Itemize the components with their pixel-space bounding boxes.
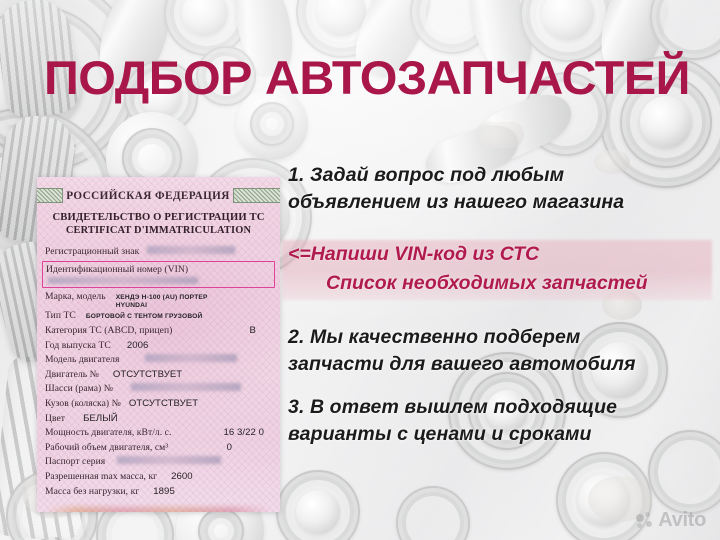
page-title: ПОДБОР АВТОЗАПЧАСТЕЙ	[44, 50, 711, 106]
field-label: Двигатель №	[45, 368, 99, 383]
field-label: Шасси (рама) №	[45, 382, 113, 397]
redacted-value	[147, 246, 235, 254]
vin-callout-line-1: <=Напиши VIN-код из СТС	[288, 240, 708, 269]
field-label: Год выпуска ТС	[45, 339, 111, 354]
security-pattern-left-icon	[37, 188, 63, 203]
certificate-field-list: Регистрационный знак Идентификационный н…	[45, 245, 272, 499]
field-value: B	[250, 324, 256, 339]
certificate-field-row: Категория ТС (ABCD, прицеп) B	[45, 324, 272, 339]
poster-canvas: ПОДБОР АВТОЗАПЧАСТЕЙ РОССИЙСКАЯ ФЕДЕРАЦИ…	[0, 0, 720, 540]
instructions-column: 1. Задай вопрос под любым объявлением из…	[288, 162, 708, 448]
certificate-redacted-stamp-date	[45, 507, 272, 512]
avito-watermark: Avito	[636, 510, 706, 530]
redacted-value	[131, 383, 241, 391]
field-label: Модель двигателя	[45, 353, 119, 368]
step-1-line-2: объявлением из нашего магазина	[288, 189, 708, 216]
certificate-field-row: Идентификационный номер (VIN)	[46, 263, 271, 278]
certificate-field-row: Разрешенная max масса, кг 2600	[45, 470, 272, 485]
step-2-line-1: 2. Мы качественно подберем	[288, 324, 708, 351]
certificate-field-row: Модель двигателя	[45, 353, 272, 368]
field-label: Кузов (коляска) №	[45, 397, 121, 412]
field-value: 2600	[171, 470, 193, 485]
certificate-title-ru: СВИДЕТЕЛЬСТВО О РЕГИСТРАЦИИ ТС	[45, 212, 272, 223]
field-value: 1895	[153, 485, 175, 500]
certificate-field-row: Паспорт серия	[45, 455, 272, 470]
security-pattern-right-icon	[233, 188, 280, 203]
avito-logo-icon	[636, 512, 653, 529]
certificate-field-row: Марка, модель ХЕНДЭ Н-100 (AU) ПОРТЕР HY…	[45, 290, 272, 309]
step-1-text: 1. Задай вопрос под любым объявлением из…	[288, 162, 708, 216]
field-label: Разрешенная max масса, кг	[45, 470, 157, 485]
step-2-text: 2. Мы качественно подберем запчасти для …	[288, 324, 708, 378]
step-1-line-1: 1. Задай вопрос под любым	[288, 162, 708, 189]
certificate-field-row	[46, 277, 271, 284]
certificate-field-row: Шасси (рама) №	[45, 382, 272, 397]
certificate-title-fr: CERTIFICAT D'IMMATRICULATION	[45, 225, 272, 236]
field-value: ХЕНДЭ Н-100 (AU) ПОРТЕР HYUNDAI	[116, 294, 208, 309]
redacted-vin-value	[48, 277, 198, 284]
step-3-line-2: варианты с ценами и сроками	[288, 421, 708, 448]
redacted-value	[145, 354, 237, 362]
field-value: БЕЛЫЙ	[83, 412, 118, 427]
vin-callout-line-2: Список необходимых запчастей	[288, 269, 708, 298]
step-2-line-2: запчасти для вашего автомобиля	[288, 351, 708, 378]
field-value: 16 3/22 0	[224, 426, 264, 441]
certificate-field-row: Тип ТС БОРТОВОЙ С ТЕНТОМ ГРУЗОВОЙ	[45, 309, 272, 324]
avito-wordmark: Avito	[658, 510, 706, 530]
field-label: Идентификационный номер (VIN)	[46, 263, 188, 278]
field-label: Масса без нагрузки, кг	[45, 485, 139, 500]
field-value: 2006	[127, 339, 149, 354]
field-label: Цвет	[45, 412, 65, 427]
certificate-header: РОССИЙСКАЯ ФЕДЕРАЦИЯ	[45, 188, 272, 203]
certificate-field-row: Двигатель № ОТСУТСТВУЕТ	[45, 368, 272, 383]
certificate-field-row: Мощность двигателя, кВт/л. с. 16 3/22 0	[45, 426, 272, 441]
certificate-field-row: Цвет БЕЛЫЙ	[45, 412, 272, 427]
vin-callout: <=Напиши VIN-код из СТС Список необходим…	[288, 240, 708, 298]
field-label: Марка, модель	[45, 290, 106, 305]
certificate-field-row: Рабочий объем двигателя, см³ 0	[45, 441, 272, 456]
certificate-country: РОССИЙСКАЯ ФЕДЕРАЦИЯ	[66, 190, 230, 202]
field-value: ОТСУТСТВУЕТ	[129, 397, 198, 412]
field-value: 0	[227, 441, 232, 456]
certificate-field-row: Регистрационный знак	[45, 245, 272, 260]
certificate-field-row: Год выпуска ТС 2006	[45, 339, 272, 354]
certificate-field-row: Масса без нагрузки, кг 1895	[45, 485, 272, 500]
field-label: Паспорт серия	[45, 455, 105, 470]
field-label: Рабочий объем двигателя, см³	[45, 441, 168, 456]
certificate-field-row: Кузов (коляска) № ОТСУТСТВУЕТ	[45, 397, 272, 412]
field-label: Категория ТС (ABCD, прицеп)	[45, 324, 172, 339]
step-3-text: 3. В ответ вышлем подходящие варианты с …	[288, 394, 708, 448]
redacted-value	[117, 456, 221, 464]
field-label: Регистрационный знак	[45, 245, 139, 260]
field-value: ОТСУТСТВУЕТ	[113, 368, 182, 383]
step-3-line-1: 3. В ответ вышлем подходящие	[288, 394, 708, 421]
field-value: БОРТОВОЙ С ТЕНТОМ ГРУЗОВОЙ	[86, 313, 203, 321]
vin-highlight-box: Идентификационный номер (VIN)	[42, 261, 275, 289]
field-label: Тип ТС	[45, 309, 76, 324]
vehicle-registration-certificate-image: РОССИЙСКАЯ ФЕДЕРАЦИЯ СВИДЕТЕЛЬСТВО О РЕГ…	[37, 177, 280, 512]
field-label: Мощность двигателя, кВт/л. с.	[45, 426, 171, 441]
